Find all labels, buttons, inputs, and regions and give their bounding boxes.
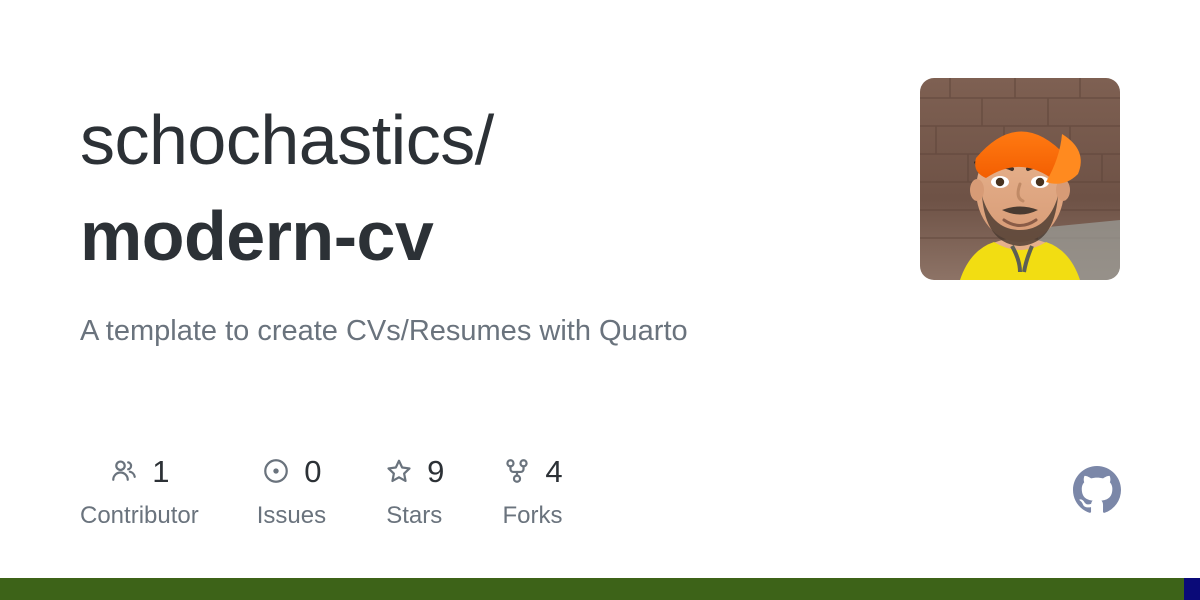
stat-issues: 0 Issues: [257, 452, 326, 531]
stat-stars-value: 9: [427, 456, 444, 487]
stat-stars-top: 9: [384, 452, 444, 490]
repo-name: modern-cv: [80, 188, 880, 284]
stat-contributors-top: 1: [109, 452, 169, 490]
repository-social-preview-card: schochastics/ modern-cv A template to cr…: [0, 0, 1200, 600]
repo-owner: schochastics/: [80, 92, 880, 188]
accent-bar-primary: [0, 578, 1184, 600]
repo-stats: 1 Contributor 0 Issues: [80, 452, 563, 531]
repo-full-name: schochastics/ modern-cv: [80, 92, 880, 284]
avatar: [920, 78, 1120, 280]
stat-forks-top: 4: [502, 452, 562, 490]
stat-stars-label: Stars: [386, 501, 442, 531]
stat-stars: 9 Stars: [384, 452, 444, 531]
page-title: schochastics/ modern-cv: [80, 92, 880, 284]
stat-contributors-label: Contributor: [80, 501, 199, 531]
accent-bar-secondary: [1184, 578, 1200, 600]
stat-contributors-value: 1: [152, 456, 169, 487]
stat-forks-value: 4: [545, 456, 562, 487]
people-icon: [109, 456, 139, 486]
issue-opened-icon: [261, 456, 291, 486]
stat-issues-top: 0: [261, 452, 321, 490]
repo-description: A template to create CVs/Resumes with Qu…: [80, 310, 688, 352]
star-icon: [384, 456, 414, 486]
stat-issues-label: Issues: [257, 501, 326, 531]
github-mark-icon: [1073, 466, 1121, 514]
fork-icon: [502, 456, 532, 486]
stat-forks-label: Forks: [502, 501, 562, 531]
accent-bar: [0, 578, 1200, 600]
stat-forks: 4 Forks: [502, 452, 562, 531]
stat-issues-value: 0: [304, 456, 321, 487]
stat-contributors: 1 Contributor: [80, 452, 199, 531]
